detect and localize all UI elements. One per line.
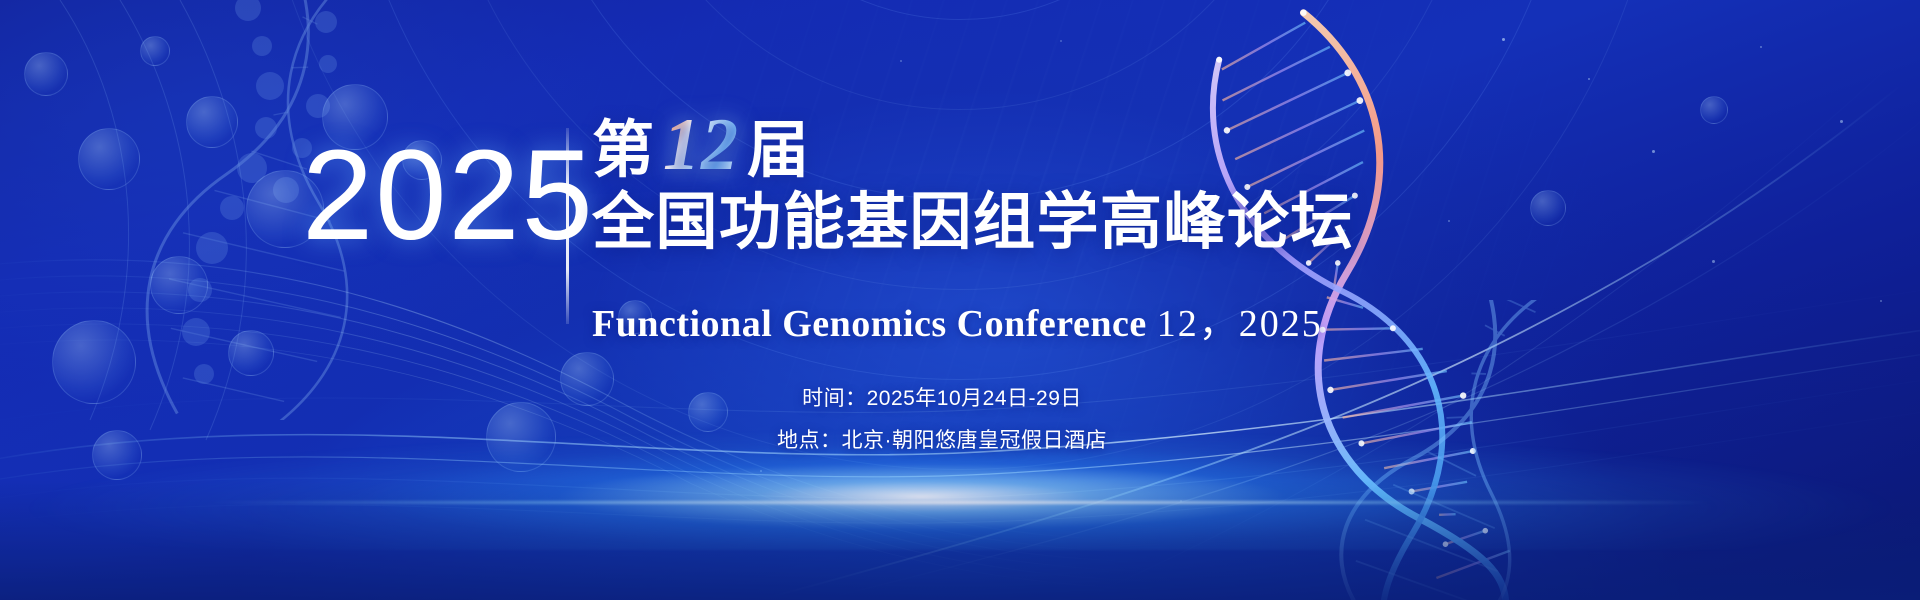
conference-time: 时间：2025年10月24日-29日 xyxy=(592,388,1292,409)
conference-title-en-main: Functional Genomics Conference xyxy=(592,303,1147,345)
edition-number: 12 xyxy=(657,108,745,182)
conference-place: 地点：北京·朝阳悠唐皇冠假日酒店 xyxy=(592,430,1292,451)
edition-prefix: 第 xyxy=(592,120,655,182)
edition-line: 第 12 届 xyxy=(592,108,810,182)
conference-title-cn: 全国功能基因组学高峰论坛 xyxy=(592,192,1354,254)
conference-title-en: Functional Genomics Conference 12，2025 xyxy=(592,305,1323,343)
banner-content: 2025 第 12 届 全国功能基因组学高峰论坛 Functional Geno… xyxy=(0,0,1920,600)
edition-suffix: 届 xyxy=(747,120,810,182)
conference-title-en-year: 12，2025 xyxy=(1157,303,1323,345)
conference-banner: 2025 第 12 届 全国功能基因组学高峰论坛 Functional Geno… xyxy=(0,0,1920,600)
year-number: 2025 xyxy=(302,132,595,260)
vertical-divider xyxy=(566,128,569,324)
